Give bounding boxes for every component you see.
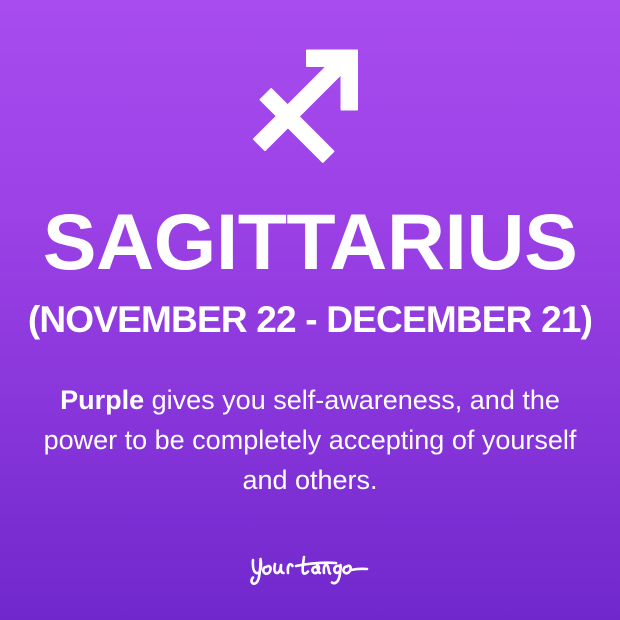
description-lead-word: Purple bbox=[60, 385, 144, 415]
yourtango-script-logo bbox=[0, 548, 620, 588]
page-title: SAGITTARIUS bbox=[43, 202, 578, 281]
sagittarius-arrow-icon bbox=[250, 46, 370, 164]
description-text: Purple gives you self-awareness, and the… bbox=[20, 380, 600, 500]
date-range-label: (NOVEMBER 22 - DECEMBER 21) bbox=[28, 301, 592, 338]
zodiac-card: SAGITTARIUS (NOVEMBER 22 - DECEMBER 21) … bbox=[0, 0, 620, 620]
